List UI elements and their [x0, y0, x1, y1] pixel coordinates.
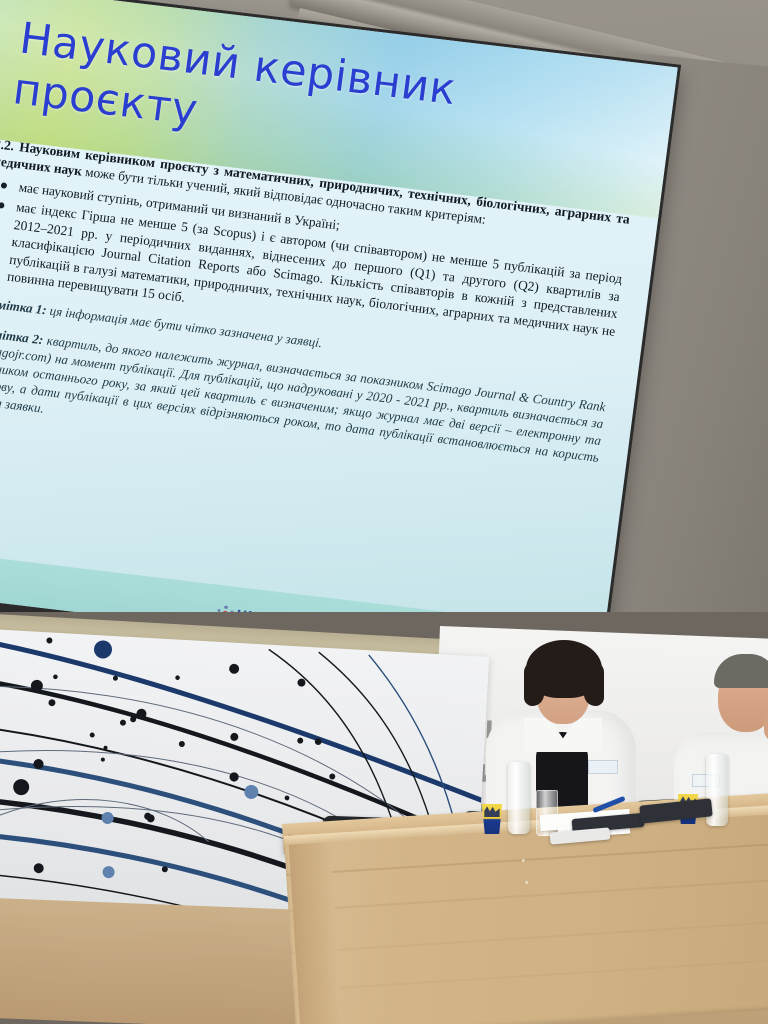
note-2-label: Примітка 2:	[0, 323, 44, 347]
conference-room-photo: Науковий керівник проєкту 2.2. Науковим …	[0, 0, 768, 1024]
clause-number: 2.2.	[0, 136, 15, 153]
hair-side	[584, 662, 604, 706]
hair-short	[714, 654, 768, 688]
screw	[525, 881, 528, 884]
note-1-label: Примітка 1:	[0, 294, 48, 318]
projection-screen: Науковий керівник проєкту 2.2. Науковим …	[0, 0, 681, 700]
badge	[588, 760, 618, 774]
presentation-slide: Науковий керівник проєкту 2.2. Науковим …	[0, 0, 678, 674]
hair-side	[524, 662, 544, 706]
lower-room: НАЦІОНАЛ СТИТ ОВАНО	[0, 612, 768, 1024]
podium-front-panel	[284, 809, 768, 1024]
note-2-text: квартиль, до якого належить журнал, визн…	[0, 332, 606, 465]
screw	[522, 859, 525, 862]
water-bottle	[508, 762, 530, 834]
